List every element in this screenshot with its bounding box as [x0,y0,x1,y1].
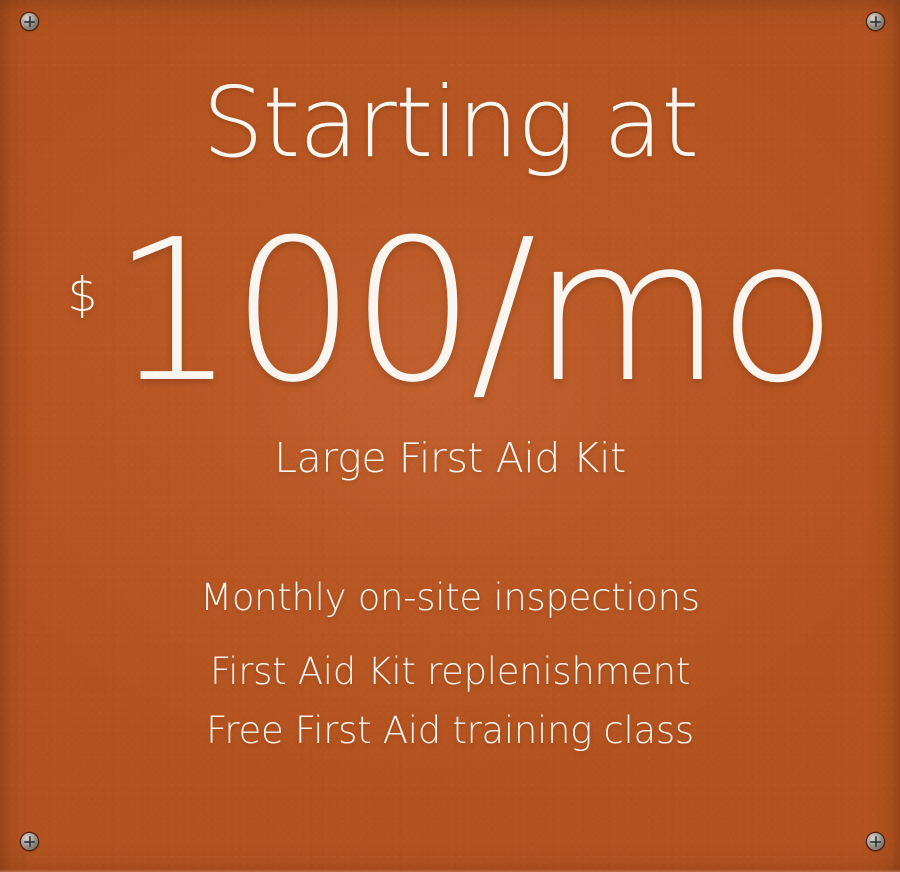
list-item: Free First Aid training class [0,711,900,751]
price-amount: 100/mo [111,214,832,410]
pricing-sign-panel: Starting at $ 100/mo Large First Aid Kit… [0,0,900,872]
pricing-content: Starting at $ 100/mo Large First Aid Kit… [0,0,900,872]
list-item: First Aid Kit replenishment [0,652,900,692]
headline: Starting at [0,74,900,171]
list-item: Monthly on-site inspections [0,578,900,618]
plan-name: Large First Aid Kit [0,436,900,481]
currency-symbol: $ [68,272,98,319]
price-block: $ 100/mo [0,214,900,410]
feature-list: Monthly on-site inspections First Aid Ki… [0,578,900,751]
